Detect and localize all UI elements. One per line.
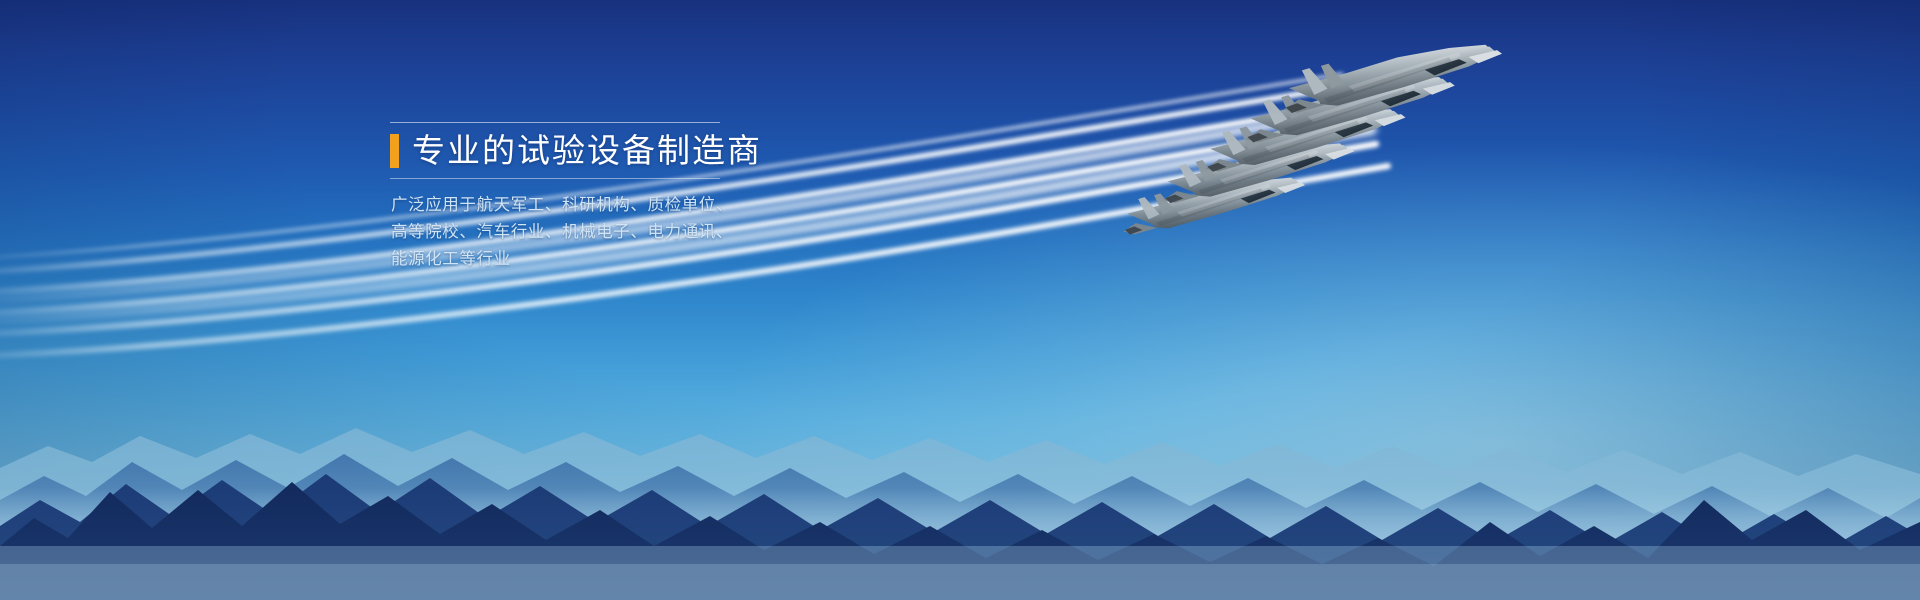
- accent-bar: [390, 134, 399, 168]
- banner-copy-block: 专业的试验设备制造商 广泛应用于航天军工、科研机构、质检单位、 高等院校、汽车行…: [390, 122, 810, 273]
- mountain-range-silhouette: [0, 350, 1920, 600]
- headline-bottom-rule: [390, 178, 720, 179]
- subtitle-line-1: 广泛应用于航天军工、科研机构、质检单位、: [391, 192, 810, 219]
- subtitle-line-3: 能源化工等行业: [391, 246, 810, 273]
- subtitle-line-2: 高等院校、汽车行业、机械电子、电力通讯、: [391, 219, 810, 246]
- page-title: 专业的试验设备制造商: [412, 134, 762, 168]
- banner-subtitle: 广泛应用于航天军工、科研机构、质检单位、 高等院校、汽车行业、机械电子、电力通讯…: [391, 192, 810, 273]
- fighter-jet-formation: [1130, 40, 1510, 280]
- headline-row: 专业的试验设备制造商: [390, 134, 810, 168]
- headline-top-rule: [390, 122, 720, 123]
- hero-banner: 专业的试验设备制造商 广泛应用于航天军工、科研机构、质检单位、 高等院校、汽车行…: [0, 0, 1920, 600]
